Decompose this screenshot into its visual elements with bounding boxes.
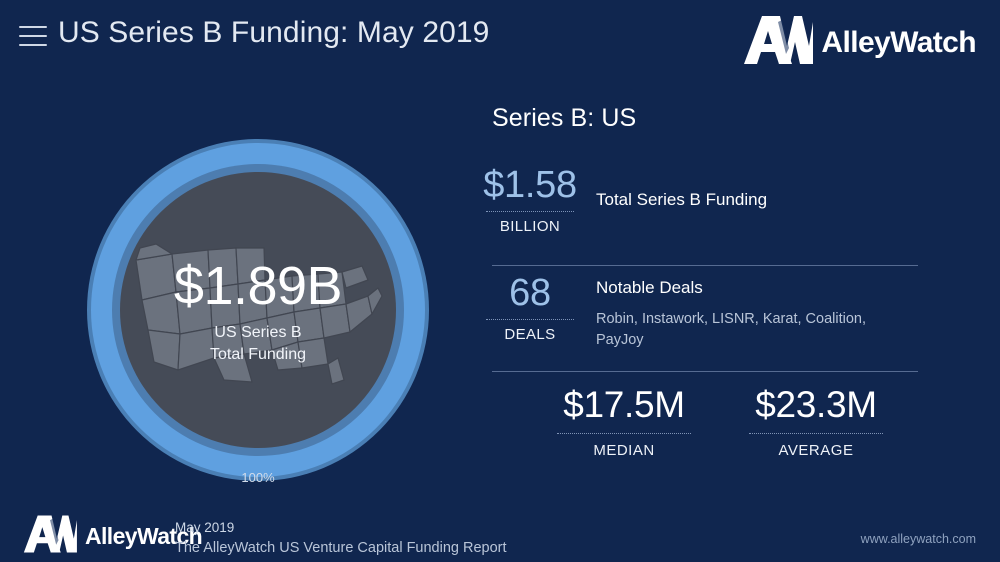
donut-total-value: $1.89B (174, 259, 342, 313)
hamburger-line (19, 35, 47, 37)
median-value: $17.5M (539, 386, 709, 423)
average-value: $23.3M (731, 386, 901, 423)
median-label: MEDIAN (539, 442, 709, 459)
average-label: AVERAGE (731, 442, 901, 459)
dotted-underline (486, 211, 574, 212)
notable-deals-label: Notable Deals (596, 278, 886, 298)
footer-report-title: The AlleyWatch US Venture Capital Fundin… (175, 538, 507, 559)
stat-row-total-funding: $1.58 BILLION Total Series B Funding (480, 166, 767, 235)
donut-subtitle-line2: Total Funding (210, 344, 306, 365)
panel-divider (492, 265, 918, 266)
panel-title: Series B: US (492, 104, 636, 133)
total-funding-value: $1.58 (480, 166, 580, 204)
footer-caption: May 2019 The AlleyWatch US Venture Capit… (175, 518, 507, 559)
donut-subtitle: US Series B Total Funding (210, 322, 306, 364)
dotted-underline (486, 319, 574, 320)
dotted-underline (557, 433, 691, 434)
dotted-underline (749, 433, 883, 434)
footer-date: May 2019 (175, 518, 507, 538)
deals-unit: DEALS (480, 326, 580, 343)
hamburger-line (19, 26, 47, 28)
total-funding-label: Total Series B Funding (596, 190, 767, 210)
median-average-group: $17.5M MEDIAN $23.3M AVERAGE (520, 386, 920, 459)
footer-bar: AlleyWatch May 2019 The AlleyWatch US Ve… (0, 500, 1000, 562)
donut-chart: $1.89B US Series B Total Funding (87, 139, 429, 481)
donut-center-text: $1.89B US Series B Total Funding (120, 172, 396, 448)
stat-row-notable-deals: 68 DEALS Notable Deals Robin, Instawork,… (480, 274, 886, 350)
header-bar: US Series B Funding: May 2019 AlleyWatch (0, 0, 1000, 88)
deals-count-value: 68 (480, 274, 580, 312)
donut-center-disc: $1.89B US Series B Total Funding (120, 172, 396, 448)
total-funding-unit: BILLION (480, 218, 580, 235)
notable-deals-companies: Robin, Instawork, LISNR, Karat, Coalitio… (596, 309, 886, 350)
donut-subtitle-line1: US Series B (210, 322, 306, 343)
panel-divider (492, 371, 918, 372)
total-funding-description: Total Series B Funding (596, 166, 767, 210)
deals-description: Notable Deals Robin, Instawork, LISNR, K… (596, 274, 886, 350)
page-title: US Series B Funding: May 2019 (58, 16, 489, 50)
hamburger-menu-icon[interactable] (19, 24, 47, 48)
footer-website-url[interactable]: www.alleywatch.com (861, 532, 976, 546)
total-funding-figure: $1.58 BILLION (480, 166, 580, 235)
infographic-slide: US Series B Funding: May 2019 AlleyWatch (0, 0, 1000, 562)
header-logo[interactable]: AlleyWatch (742, 14, 976, 71)
donut-percent-label: 100% (87, 470, 429, 485)
deals-figure: 68 DEALS (480, 274, 580, 343)
average-stat: $23.3M AVERAGE (731, 386, 901, 459)
stats-panel: Series B: US $1.58 BILLION Total Series … (480, 104, 940, 504)
header-logo-text: AlleyWatch (821, 28, 976, 58)
hamburger-line (19, 44, 47, 46)
median-stat: $17.5M MEDIAN (539, 386, 709, 459)
aw-monogram-icon (742, 14, 814, 71)
aw-monogram-icon (22, 514, 78, 559)
